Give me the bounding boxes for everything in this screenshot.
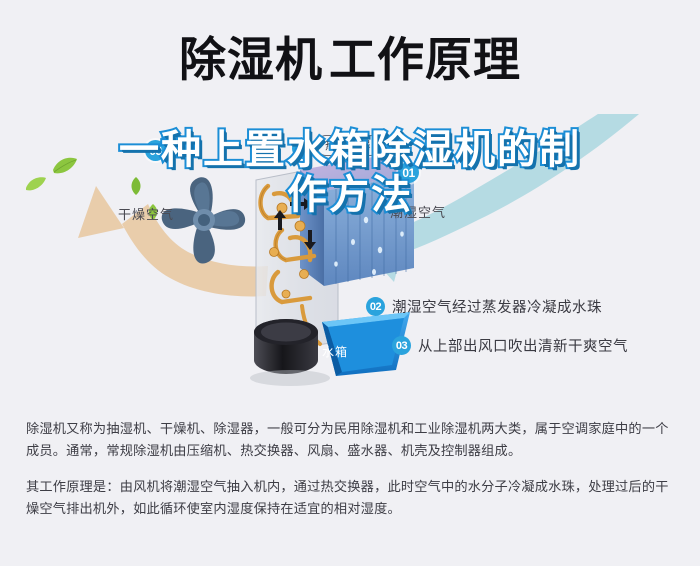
step-line-02: 02 潮湿空气经过蒸发器冷凝成水珠 xyxy=(366,296,602,317)
moist-air-label: 潮湿空气 xyxy=(390,202,446,221)
badge-03-inline: 03 xyxy=(392,336,411,355)
badge-03: 03 xyxy=(145,140,166,161)
callout-tail xyxy=(340,154,352,163)
water-tank-label: 水箱 xyxy=(322,343,348,360)
dry-air-label: 干燥空气 xyxy=(118,204,174,223)
badge-02-inline: 02 xyxy=(366,297,385,316)
paragraph-1: 除湿机又称为抽湿机、干燥机、除湿器，一般可分为民用除湿机和工业除湿机两大类，属于… xyxy=(26,418,678,462)
body-copy: 除湿机又称为抽湿机、干燥机、除湿器，一般可分为民用除湿机和工业除湿机两大类，属于… xyxy=(26,418,678,520)
title-part-heavy: 工作原理 xyxy=(329,33,521,86)
paragraph-2: 其工作原理是：由风机将潮湿空气抽入机内，通过热交换器，此时空气中的水分子冷凝成水… xyxy=(26,476,678,520)
badge-01: 01 xyxy=(398,162,419,183)
badge-02: 02 xyxy=(292,138,313,159)
leaf-icon xyxy=(25,176,47,193)
leaf-icon xyxy=(128,176,144,196)
diagram-illustration: 01 02 03 热交换器 潮湿空气 干燥空气 水箱 02 潮湿空气经过蒸发器冷… xyxy=(0,118,700,408)
step-line-03: 03 从上部出风口吹出清新干爽空气 xyxy=(392,335,628,356)
page-title: 除湿机工作原理 xyxy=(0,0,700,118)
title-part-light: 除湿机 xyxy=(179,33,323,86)
title-text: 除湿机工作原理 xyxy=(179,36,521,83)
step-02-text: 潮湿空气经过蒸发器冷凝成水珠 xyxy=(392,296,602,317)
leaf-icon xyxy=(52,156,78,176)
step-03-text: 从上部出风口吹出清新干爽空气 xyxy=(418,335,628,356)
